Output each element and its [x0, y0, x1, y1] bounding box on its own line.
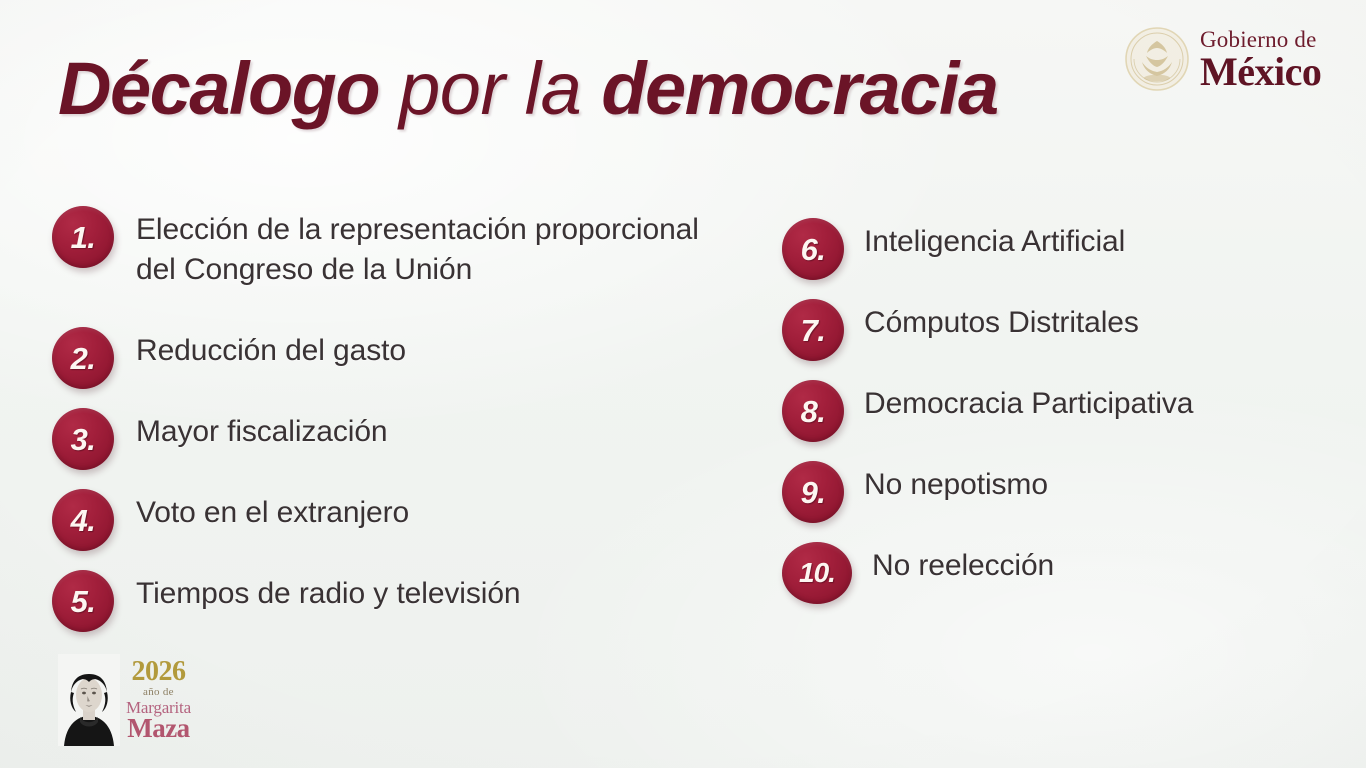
- page-title-part-1: Décalogo: [58, 47, 379, 130]
- list-item-number-badge: 10.: [782, 542, 852, 604]
- list-item-number-badge: 8.: [782, 380, 844, 442]
- list-item-label: No reelección: [872, 542, 1054, 586]
- list-item-number-badge: 5.: [52, 570, 114, 632]
- list-item-number-badge: 9.: [782, 461, 844, 523]
- list-item[interactable]: 6.Inteligencia Artificial: [782, 218, 1125, 280]
- page-title-part-2: por la: [379, 47, 601, 130]
- gobierno-de-mexico-logo: Gobierno de México: [1124, 18, 1352, 100]
- list-item[interactable]: 5.Tiempos de radio y televisión: [52, 570, 521, 632]
- slide-canvas: Gobierno de México Décalogo por la democ…: [0, 0, 1366, 768]
- list-item[interactable]: 10.No reelección: [782, 542, 1054, 604]
- list-item-label: No nepotismo: [864, 461, 1048, 505]
- list-item-label: Elección de la representación proporcion…: [136, 206, 699, 290]
- list-item[interactable]: 2.Reducción del gasto: [52, 327, 406, 389]
- gobierno-de-mexico-wordmark: Gobierno de México: [1200, 26, 1321, 92]
- list-item-number-badge: 1.: [52, 206, 114, 268]
- page-title: Décalogo por la democracia: [58, 52, 998, 126]
- list-item-number-badge: 2.: [52, 327, 114, 389]
- list-item-number-badge: 6.: [782, 218, 844, 280]
- list-item-label: Democracia Participativa: [864, 380, 1193, 424]
- maza-logo-surname: Maza: [127, 715, 189, 742]
- margarita-maza-portrait-icon: [58, 654, 120, 746]
- list-item-number-badge: 4.: [52, 489, 114, 551]
- list-item[interactable]: 7.Cómputos Distritales: [782, 299, 1139, 361]
- maza-logo-year: 2026: [131, 658, 185, 686]
- mexico-coat-of-arms-icon: [1124, 26, 1190, 92]
- list-item[interactable]: 9.No nepotismo: [782, 461, 1048, 523]
- decalogue-list: 1.Elección de la representación proporci…: [0, 192, 1366, 622]
- maza-logo-prefix: año de: [143, 687, 174, 698]
- list-item-label: Reducción del gasto: [136, 327, 406, 371]
- list-item-label: Tiempos de radio y televisión: [136, 570, 521, 614]
- list-item-label: Voto en el extranjero: [136, 489, 409, 533]
- list-item-number-badge: 7.: [782, 299, 844, 361]
- gob-logo-line2: México: [1200, 52, 1321, 92]
- gob-logo-line1: Gobierno de: [1200, 28, 1321, 51]
- margarita-maza-wordmark: 2026 año de Margarita Maza: [126, 658, 191, 746]
- list-item-number-badge: 3.: [52, 408, 114, 470]
- list-item[interactable]: 1.Elección de la representación proporci…: [52, 206, 699, 290]
- list-item-label: Mayor fiscalización: [136, 408, 388, 452]
- list-item[interactable]: 4.Voto en el extranjero: [52, 489, 409, 551]
- page-title-part-3: democracia: [601, 47, 997, 130]
- list-item-label: Inteligencia Artificial: [864, 218, 1125, 262]
- list-item-label: Cómputos Distritales: [864, 299, 1139, 343]
- margarita-maza-2026-logo: 2026 año de Margarita Maza: [58, 650, 210, 746]
- list-item[interactable]: 3.Mayor fiscalización: [52, 408, 388, 470]
- list-item[interactable]: 8.Democracia Participativa: [782, 380, 1193, 442]
